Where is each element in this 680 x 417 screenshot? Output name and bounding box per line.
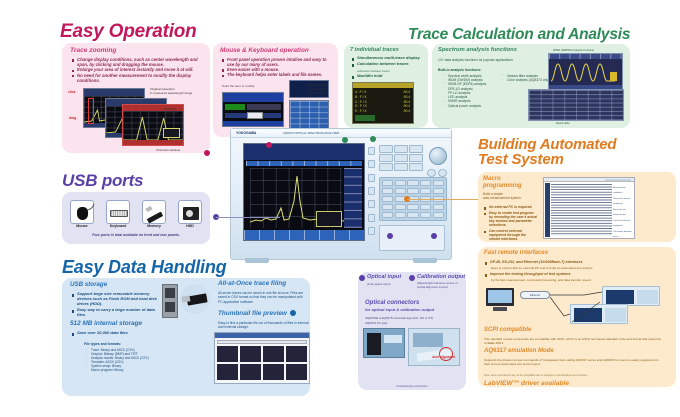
brochure-page: Easy Operation Trace zooming Change disp…: [0, 0, 680, 417]
list-item: Support large size removable memory devi…: [72, 292, 158, 307]
heading-trace-calculation: Trace Calculation and Analysis: [408, 27, 630, 43]
list-item: Macro program: Binary: [86, 368, 206, 372]
list-item: Easy way to carry a large number of data…: [72, 308, 158, 318]
memory-label: Memory: [142, 224, 166, 228]
mouse-keyboard-bullets: Front panel operation proven intuitive a…: [222, 57, 334, 78]
optical-input-dot: [359, 275, 365, 281]
macro-screen-label: Control of external equipment: [613, 197, 632, 208]
remote-sub-2: by the fast measurement, command process…: [491, 278, 591, 282]
file-types-list: Trace: Binary and ASCII (CSV) Graphic: B…: [86, 348, 206, 373]
analysis-list-left: Spectral width analysis WDM (DWDM) analy…: [443, 74, 501, 108]
instrument-photo: YOKOGAWA AQ6370 OPTICAL SPECTRUM ANALYZE…: [230, 128, 452, 260]
spectrum-analysis-title: Spectrum analysis functions: [438, 47, 517, 53]
connector-photo-right: [408, 328, 460, 366]
callout-dot-green-1: [342, 137, 348, 143]
callout-dot-pink-2: [266, 142, 272, 148]
keyboard-icon: [106, 200, 130, 224]
list-item: The keyboard helps enter labels and file…: [222, 72, 334, 77]
instrument-brandbar: YOKOGAWA AQ6370 OPTICAL SPECTRUM ANALYZE…: [231, 129, 451, 138]
macro-screen-label: Calculation between traces: [613, 230, 632, 241]
network-diagram: Ethernet: [484, 286, 670, 326]
wdm-screen-caption: WDM (DWDM) Analysis Function: [553, 48, 594, 52]
label-overview-window: Overview window: [156, 148, 180, 152]
labview-title: LabVIEW™ driver available: [484, 380, 569, 387]
instrument-softkeys[interactable]: [368, 147, 375, 235]
heading-building-ats: Building Automated Test System: [478, 137, 616, 168]
optical-input-note: (Free space input): [367, 282, 390, 286]
remote-bullets: GP-IB, RS-232, and Ethernet (10/100Base-…: [485, 260, 665, 264]
hdd-icon: [178, 200, 202, 224]
list-item: No external PC is required.: [484, 205, 538, 209]
macro-bullets: No external PC is required. Easy to crea…: [484, 205, 538, 241]
calibration-output-port: [431, 233, 437, 239]
macro-screen-label: Execution of a measurement: [613, 208, 632, 219]
remote-sub-1: Easy to control with an external PC and …: [491, 266, 593, 270]
heading-usb-ports: USB ports: [62, 172, 143, 189]
macro-program-screenshot: Measurement conditions Control of extern…: [543, 177, 635, 239]
calibration-output-note: (Wavelength reference source or optical …: [417, 282, 465, 289]
trace-zooming-bullets: Change display conditions, such as cente…: [72, 57, 208, 83]
instrument-arrow-buttons[interactable]: [427, 169, 449, 177]
list-item: Save over 20,000 data files: [72, 331, 192, 336]
list-item: Can control external equipment through t…: [484, 229, 538, 241]
scpi-body: The standard remote commands are compati…: [484, 337, 662, 345]
keypad-grid: [289, 100, 329, 130]
thumbnail-preview-screenshot: [214, 332, 310, 384]
optical-connectors-title: Optical connectors: [365, 300, 419, 307]
list-item: Change display conditions, such as cente…: [72, 57, 208, 67]
list-item: Easy to create test program by recording…: [484, 211, 538, 228]
macro-screen-label: Control of external equipment: [613, 219, 632, 230]
leader-usb: [216, 217, 280, 218]
internal-storage-title: 512 MB internal storage: [70, 320, 142, 327]
macro-screen-label: Measurement conditions: [613, 186, 632, 197]
mouse-icon: [70, 200, 94, 224]
callout-dot-blue-storage: [290, 310, 296, 316]
optical-input-title: Optical input: [367, 274, 401, 280]
list-item: Front panel operation proven intuitive a…: [222, 57, 334, 67]
list-item: No need for another measurement to modif…: [72, 73, 208, 83]
usb-ports-caption: Four ports in total available on front a…: [62, 233, 210, 237]
label-click: click: [68, 90, 76, 94]
mouse-keyboard-screenshot: [222, 92, 284, 127]
instrument-brand: YOKOGAWA: [236, 131, 256, 135]
list-item: Improve the testing throughput of test s…: [485, 272, 665, 276]
file-types-label: File types and formats:: [84, 342, 121, 346]
hdd-label: HDD: [178, 224, 202, 228]
instrument-model: AQ6370 OPTICAL SPECTRUM ANALYZER: [283, 131, 339, 135]
all-at-once-title: All-at-Once trace filing: [218, 280, 286, 287]
result-table-caption: Result table: [556, 122, 570, 125]
usb-drive-photo: [162, 282, 210, 322]
trace-zooming-title: Trace zooming: [70, 47, 116, 54]
list-item: Max/Min hold: [352, 74, 426, 79]
callout-dot-green-2: [370, 136, 376, 142]
heading-easy-data-handling: Easy Data Handling: [62, 258, 226, 276]
usb-memory-cell: Memory: [142, 200, 166, 228]
usb-storage-title: USB storage: [70, 282, 107, 289]
thumbnail-body: Easy to find a particular file out of th…: [218, 321, 310, 330]
macro-programming-title: Macro programming: [483, 176, 522, 189]
emulation-note: Note: some commands may not be compatibl…: [484, 374, 662, 377]
label-drag: drag: [69, 116, 76, 120]
seven-traces-bullets-2: Max/Min hold: [352, 74, 426, 79]
usb-icon-row: Mouse Keyboard Memory HDD: [70, 200, 202, 228]
instrument-keypad-top[interactable]: [379, 145, 423, 171]
label-modify-settings: Modify settings using the keys on the sc…: [308, 84, 327, 95]
leader-macro: [407, 199, 479, 200]
emulation-title: AQ6317 emulation Mode: [484, 348, 554, 355]
seven-traces-bullets: Simultaneous multi-trace display Calcula…: [352, 56, 426, 67]
scpi-title: SCPI compatible: [484, 327, 531, 334]
usb-storage-bullets: Support large size removable memory devi…: [72, 292, 158, 318]
emulation-body: Supports the private remote commands of …: [484, 358, 662, 366]
builtin-label: Built-in analysis functions:: [438, 68, 481, 72]
seven-traces-title: 7 individual traces: [350, 47, 399, 53]
optical-input-port: [387, 233, 393, 239]
macro-lead: Build a simple auto-measurement system.: [483, 192, 539, 200]
instrument-rotary-knob[interactable]: [429, 147, 447, 165]
spectrum-analysis-intro: 13+ data analysis functions for popular …: [438, 58, 513, 62]
heading-easy-operation: Easy Operation: [60, 22, 197, 41]
result-table-screenshot: [528, 89, 624, 121]
calibration-output-dot: [409, 275, 415, 281]
list-item: Calculation between traces: [352, 62, 426, 67]
memory-icon: [142, 200, 166, 224]
instrument-screen: [243, 143, 365, 241]
list-item: Optical power analysis: [443, 104, 501, 108]
thumbnail-title: Thumbnail file preview: [218, 310, 287, 317]
usb-hdd-cell: HDD: [178, 200, 202, 228]
usb-mouse-cell: Mouse: [70, 200, 94, 228]
calibration-output-title: Calibration output: [417, 274, 465, 280]
internal-storage-bullets: Save over 20,000 data files: [72, 331, 192, 336]
mouse-label: Mouse: [70, 224, 94, 228]
label-original-waveform: Original waveform in measured wavelength…: [150, 88, 192, 96]
all-at-once-body: All seven traces can be saved in one fil…: [218, 291, 308, 304]
usb-keyboard-cell: Keyboard: [106, 200, 130, 228]
optical-connectors-sub: for optical input & calibration output: [365, 308, 434, 312]
mouse-keyboard-title: Mouse & Keyboard operation: [220, 47, 309, 54]
label-point-item: Point the item to modify.: [222, 84, 255, 88]
auto-alignment-label: Auto alignment: [432, 355, 455, 359]
list-item: GP-IB, RS-232, and Ethernet (10/100Base-…: [485, 260, 665, 264]
keyboard-label: Keyboard: [106, 224, 130, 228]
remote-bullets-2: Improve the testing throughput of test s…: [485, 272, 665, 276]
connectors-line-2: AQ6373 FC type: [365, 321, 387, 325]
trace-list-screenshot: A : F I XB : F I XC : F I XD : F I XE : …: [352, 82, 414, 124]
remote-interfaces-title: Fast remote interfaces: [484, 250, 548, 257]
callout-dot-pink-1: [204, 150, 210, 156]
connectors-line-1: AQ6370E & AQ6375 Universal type (FC, SC …: [365, 316, 433, 320]
label-enlarged-waveform: Enlarged waveform: [164, 108, 177, 116]
universal-connector-caption: Universal type connectors: [358, 385, 466, 388]
connector-photo-left: [363, 328, 405, 358]
